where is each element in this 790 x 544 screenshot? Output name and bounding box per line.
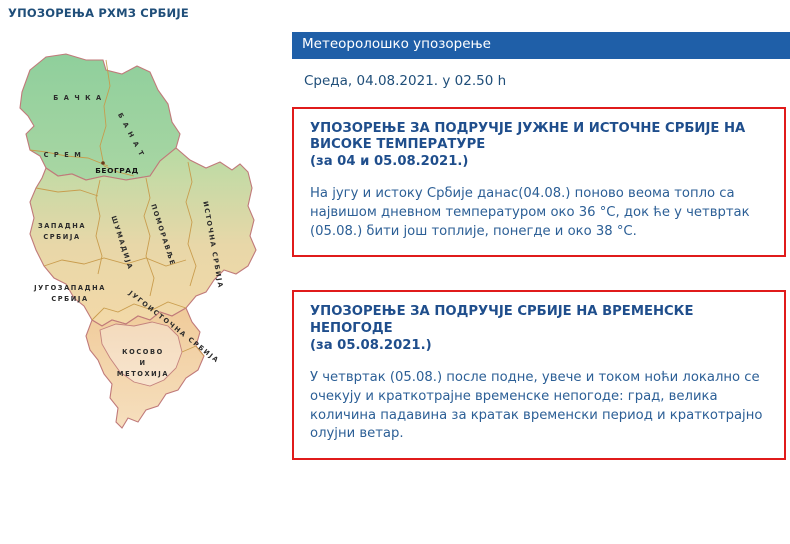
- map-region-vojvodina: [20, 54, 180, 180]
- svg-text:С Р Е М: С Р Е М: [44, 151, 83, 159]
- issued-datetime: Среда, 04.08.2021. у 02.50 h: [292, 59, 784, 89]
- alert-box-high-temperature: УПОЗОРЕЊЕ ЗА ПОДРУЧЈЕ ЈУЖНЕ И ИСТОЧНЕ СР…: [292, 107, 786, 258]
- alert-title: УПОЗОРЕЊЕ ЗА ПОДРУЧЈЕ СРБИЈЕ НА ВРЕМЕНСК…: [310, 304, 770, 355]
- svg-text:Б А Ч К А: Б А Ч К А: [53, 94, 103, 102]
- svg-text:БЕОГРАД: БЕОГРАД: [95, 166, 139, 175]
- alert-title: УПОЗОРЕЊЕ ЗА ПОДРУЧЈЕ ЈУЖНЕ И ИСТОЧНЕ СР…: [310, 121, 770, 172]
- meteo-warning-banner: Метеоролошко упозорење: [292, 32, 790, 59]
- city-dot-icon: [101, 161, 105, 165]
- serbia-regions-map: Б А Ч К А Б А Н А Т С Р Е М ЗАПАДНА СРБИ…: [0, 30, 290, 450]
- alert-box-severe-weather: УПОЗОРЕЊЕ ЗА ПОДРУЧЈЕ СРБИЈЕ НА ВРЕМЕНСК…: [292, 290, 786, 460]
- content-panel: Метеоролошко упозорење Среда, 04.08.2021…: [292, 32, 784, 460]
- svg-text:СРБИЈА: СРБИЈА: [51, 295, 88, 303]
- svg-text:И: И: [139, 359, 146, 367]
- alert-body: У четвртак (05.08.) после подне, увече и…: [310, 369, 770, 444]
- svg-text:КОСОВО: КОСОВО: [122, 348, 164, 356]
- serbia-map-panel: Б А Ч К А Б А Н А Т С Р Е М ЗАПАДНА СРБИ…: [0, 30, 290, 450]
- svg-text:ЈУГОЗАПАДНА: ЈУГОЗАПАДНА: [33, 284, 106, 292]
- svg-text:ЗАПАДНА: ЗАПАДНА: [38, 222, 86, 230]
- page-title: УПОЗОРЕЊА РХМЗ СРБИЈЕ: [8, 6, 189, 20]
- svg-text:СРБИЈА: СРБИЈА: [43, 233, 80, 241]
- alert-body: На југу и истоку Србије данас(04.08.) по…: [310, 185, 770, 241]
- svg-text:МЕТОХИЈА: МЕТОХИЈА: [117, 370, 169, 378]
